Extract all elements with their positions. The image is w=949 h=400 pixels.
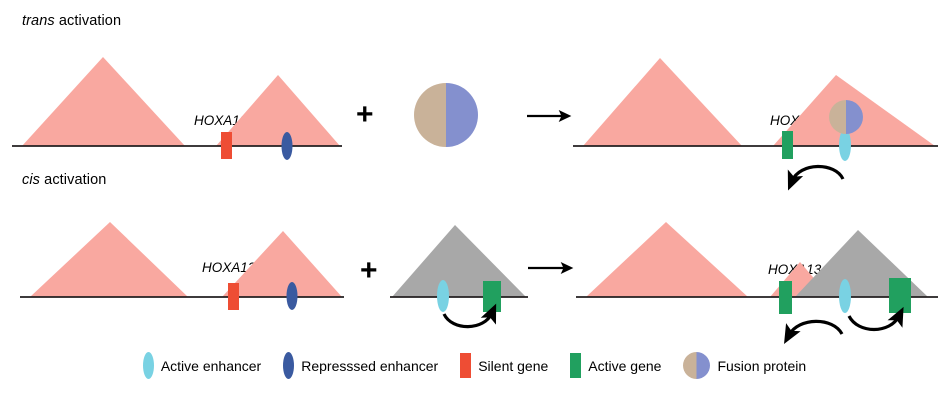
active-gene-hoxa13 (782, 131, 793, 159)
gene-rect-icon (460, 353, 471, 378)
legend-label: Represssed enhancer (301, 358, 438, 374)
active-gene-partner (483, 281, 501, 312)
cis-partner-locus-panel (390, 225, 528, 327)
legend-item-active-enhancer: Active enhancer (143, 352, 261, 379)
activation-arrow-cis-partner (444, 313, 492, 327)
tad-domain-triangle-large (30, 222, 188, 297)
legend: Active enhancer Represssed enhancer Sile… (0, 352, 949, 379)
figure-canvas: trans activation cis activation HOXA13 H… (0, 0, 949, 400)
repressed-enhancer (282, 132, 293, 160)
tad-domain-triangle-large (586, 222, 748, 297)
tad-domain-triangle-large (583, 58, 742, 146)
enhancer-ellipse-icon (143, 352, 154, 379)
legend-label: Active gene (588, 358, 661, 374)
active-enhancer (839, 279, 851, 313)
activation-arrow-cis-left (789, 321, 842, 335)
activation-arrow-trans (792, 166, 843, 181)
legend-label: Silent gene (478, 358, 548, 374)
cis-before-panel (20, 222, 344, 310)
partner-domain-triangle (392, 225, 526, 297)
silent-gene-hoxa13 (221, 132, 232, 159)
enhancer-ellipse-icon (283, 352, 294, 379)
silent-gene-hoxa13 (228, 283, 239, 310)
gene-rect-icon (570, 353, 581, 378)
legend-item-silent-gene: Silent gene (460, 353, 548, 378)
legend-item-fusion-protein: Fusion protein (683, 352, 806, 379)
active-gene-hoxa13 (779, 281, 792, 314)
tad-domain-triangle-small (222, 231, 342, 297)
tad-domain-triangle-small (216, 75, 340, 146)
trans-fusion-protein-panel (414, 83, 478, 147)
legend-item-repressed-enhancer: Represssed enhancer (283, 352, 438, 379)
active-gene-partner (889, 278, 911, 313)
active-enhancer (437, 280, 449, 312)
legend-item-active-gene: Active gene (570, 353, 661, 378)
trans-after-panel (573, 58, 938, 181)
repressed-enhancer (287, 282, 298, 310)
legend-label: Fusion protein (717, 358, 806, 374)
diagram-svg (0, 0, 949, 400)
fusion-protein-circle (829, 100, 863, 134)
cis-after-panel (576, 222, 938, 335)
legend-label: Active enhancer (161, 358, 261, 374)
fusion-circle-icon (683, 352, 710, 379)
tad-domain-triangle-large (22, 57, 185, 146)
activation-arrow-cis-right (849, 316, 899, 330)
fusion-protein-circle (414, 83, 478, 147)
trans-before-panel (12, 57, 342, 160)
